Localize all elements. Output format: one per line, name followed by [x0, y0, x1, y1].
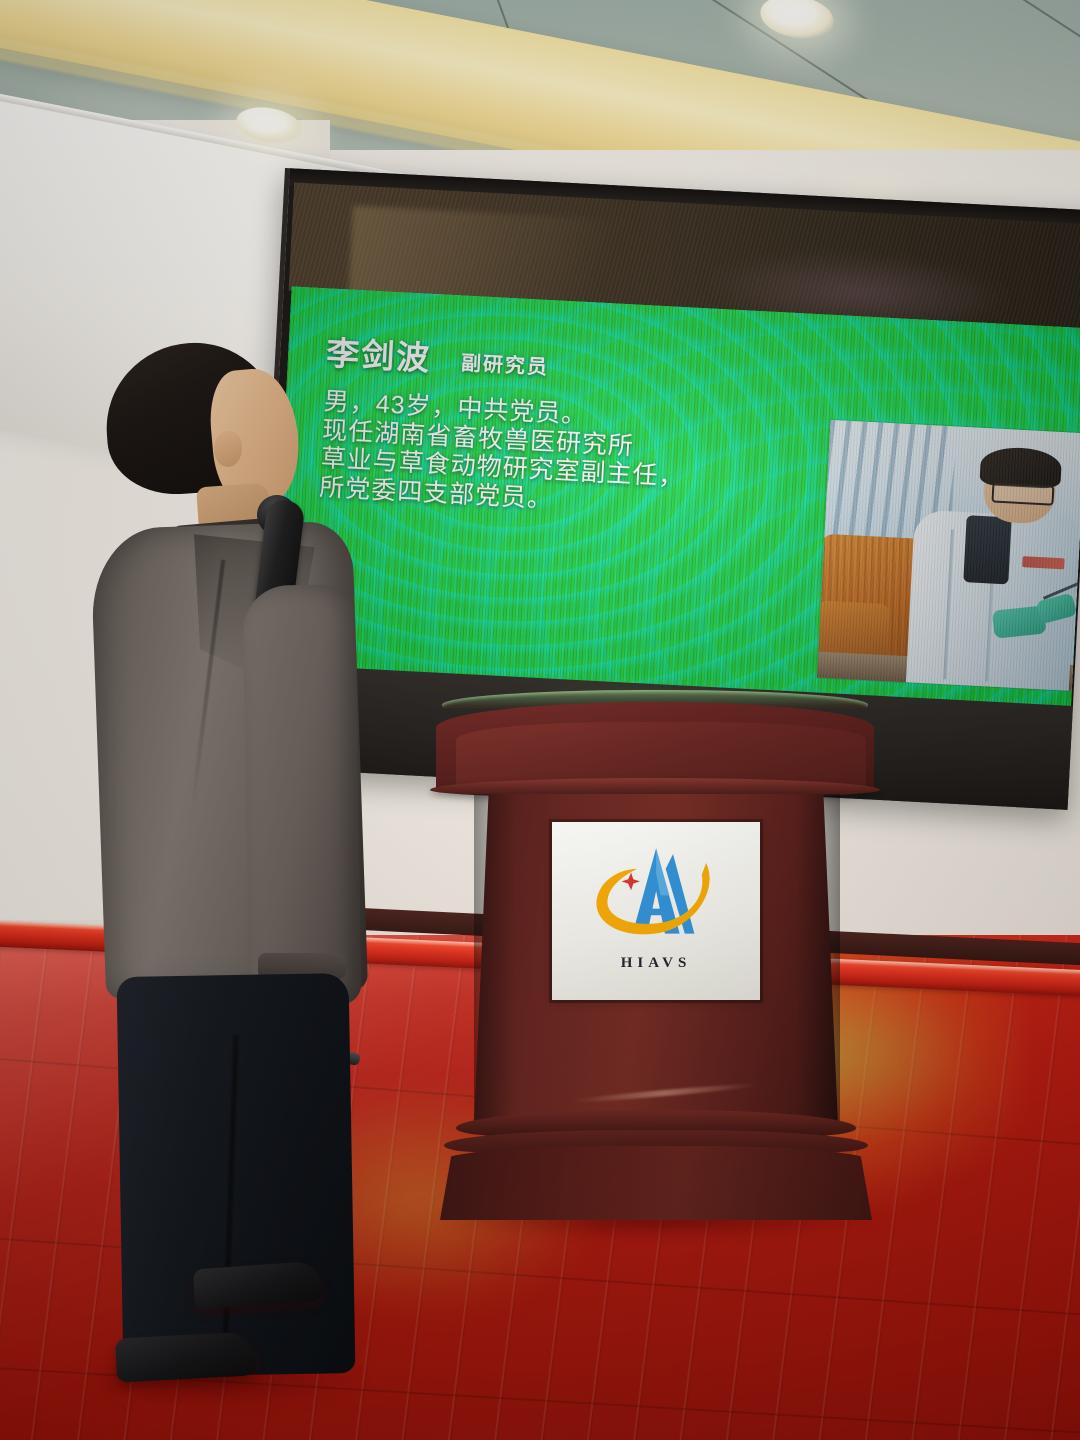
presenter-shoe	[115, 1331, 257, 1382]
hiavs-logo-icon: HIAVS	[552, 822, 760, 1000]
presenter-trousers	[117, 973, 356, 1377]
podium-bevel-right	[796, 794, 840, 1124]
photo-led-sheen	[817, 420, 1080, 691]
presenter-arm	[242, 584, 361, 1006]
podium-base	[440, 1146, 872, 1220]
podium: HIAVS	[430, 690, 880, 1310]
slide-photo	[817, 420, 1080, 691]
podium-logo-panel: HIAVS	[552, 822, 760, 1000]
hiavs-logo-text: HIAVS	[552, 955, 760, 972]
presenter-ear	[214, 431, 242, 467]
podium-desk	[436, 702, 874, 790]
presenter	[86, 335, 406, 1405]
photo-scene: 李剑波 副研究员 男，43岁，中共党员。 现任湖南省畜牧兽医研究所 草业与草食动…	[0, 0, 1080, 1440]
podium-bevel-left	[474, 794, 516, 1124]
slide-person-role: 副研究员	[460, 353, 549, 381]
